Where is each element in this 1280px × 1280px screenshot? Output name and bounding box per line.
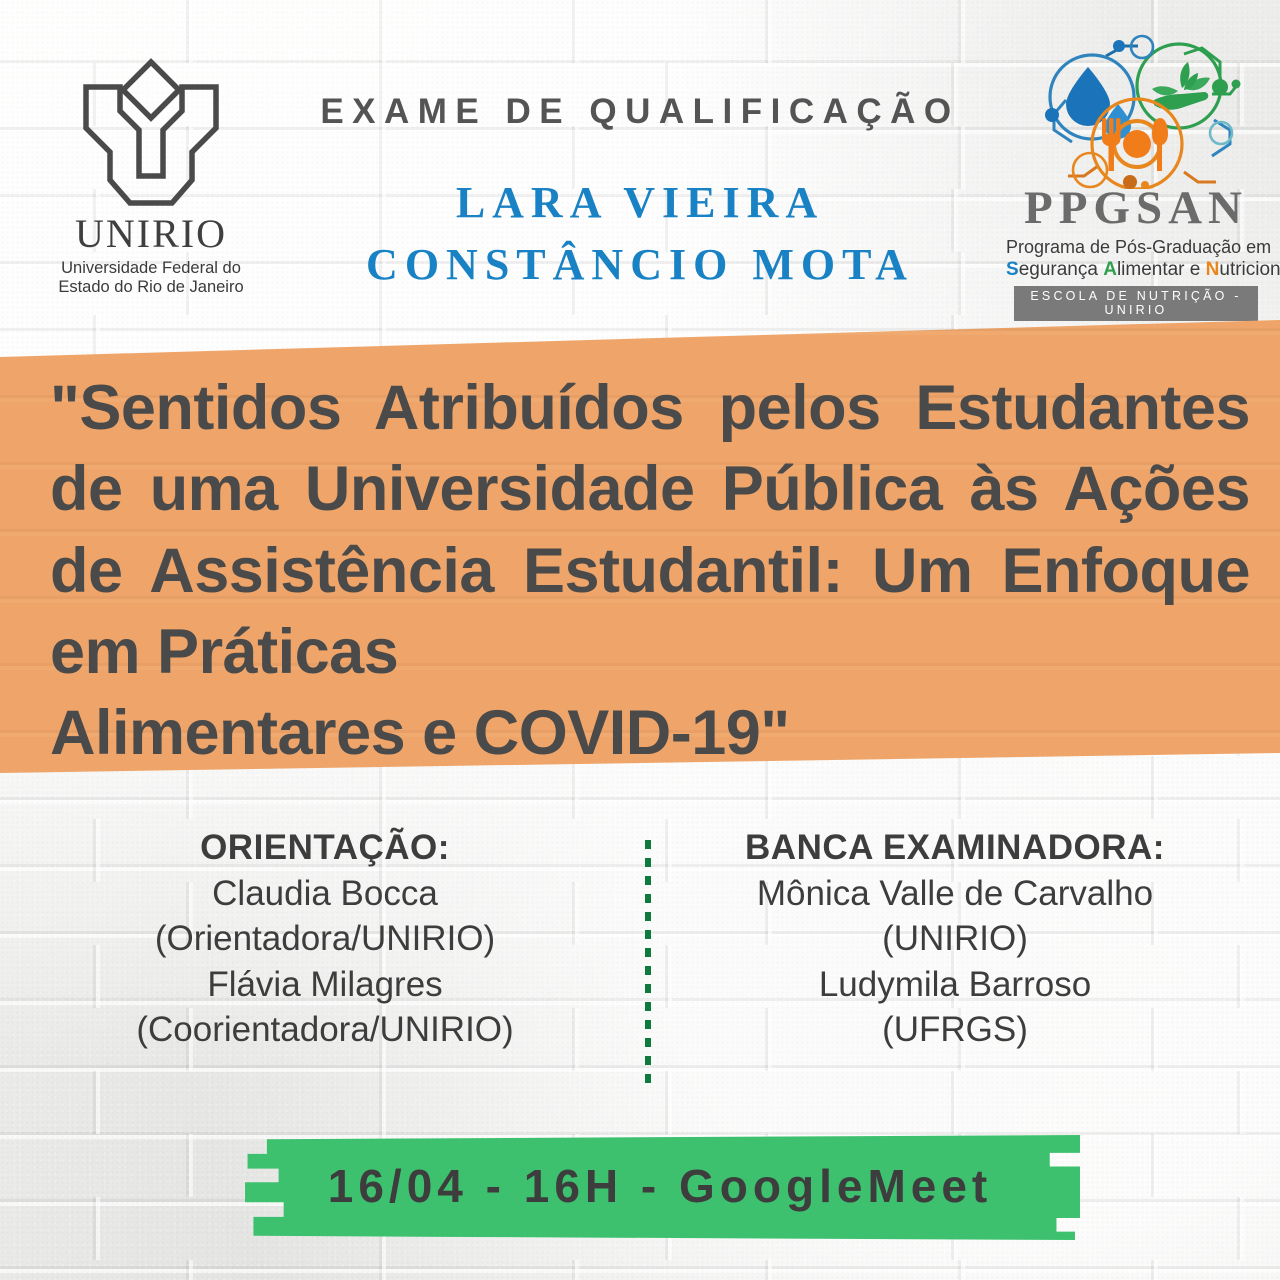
- advising-column: ORIENTAÇÃO: Claudia Bocca (Orientadora/U…: [20, 826, 630, 1053]
- student-name-line2: CONSTÂNCIO MOTA: [300, 234, 980, 296]
- thesis-title-last-line: Alimentares e COVID-19": [50, 693, 1250, 774]
- schedule-banner: 16/04 - 16H - GoogleMeet: [240, 1135, 1080, 1240]
- unirio-subtitle: Universidade Federal do Estado do Rio de…: [46, 259, 256, 298]
- examining-heading: BANCA EXAMINADORA:: [650, 826, 1260, 871]
- ppgsan-letter-n: N: [1206, 259, 1220, 280]
- ppgsan-alimentar-rest: limentar e: [1117, 259, 1206, 280]
- unirio-subtitle-line2: Estado do Rio de Janeiro: [46, 278, 256, 297]
- schedule-text: 16/04 - 16H - GoogleMeet: [240, 1133, 1080, 1238]
- examiner-affiliation-2: (UFRGS): [650, 1007, 1260, 1053]
- advisor-affiliation-1: (Orientadora/UNIRIO): [20, 916, 630, 962]
- ppgsan-program-subject: Segurança Alimentar e Nutricional: [1006, 259, 1266, 282]
- ppgsan-wordmark: PPGSAN: [1006, 185, 1266, 232]
- advisor-name-1: Claudia Bocca: [20, 871, 630, 917]
- advising-heading: ORIENTAÇÃO:: [20, 826, 630, 871]
- examiner-name-1: Mônica Valle de Carvalho: [650, 871, 1260, 917]
- ppgsan-emblem-svg: [1006, 34, 1266, 189]
- advisor-affiliation-2: (Coorientadora/UNIRIO): [20, 1007, 630, 1053]
- ppgsan-logo: PPGSAN Programa de Pós-Graduação em Segu…: [1006, 34, 1266, 321]
- ppgsan-school-bar: ESCOLA DE NUTRIÇÃO - UNIRIO: [1014, 286, 1258, 321]
- event-type-label: EXAME DE QUALIFICAÇÃO: [300, 92, 980, 132]
- unirio-emblem-icon: [76, 56, 226, 216]
- ppgsan-emblem-icons: [1006, 34, 1266, 189]
- ppgsan-program-line: Programa de Pós-Graduação em: [1006, 236, 1266, 259]
- student-name-line1: LARA VIEIRA: [300, 172, 980, 234]
- ppgsan-nutricional-rest: utricional: [1219, 259, 1280, 280]
- event-poster: UNIRIO Universidade Federal do Estado do…: [0, 0, 1280, 1280]
- examiner-name-2: Ludymila Barroso: [650, 962, 1260, 1008]
- thesis-title: "Sentidos Atribuídos pelos Estudantes de…: [50, 368, 1250, 774]
- ppgsan-seguranca-rest: egurança: [1019, 259, 1104, 280]
- unirio-subtitle-line1: Universidade Federal do: [46, 259, 256, 278]
- advisor-name-2: Flávia Milagres: [20, 962, 630, 1008]
- unirio-logo: UNIRIO Universidade Federal do Estado do…: [46, 56, 256, 298]
- examining-column: BANCA EXAMINADORA: Mônica Valle de Carva…: [650, 826, 1260, 1053]
- student-name: LARA VIEIRA CONSTÂNCIO MOTA: [300, 172, 980, 297]
- thesis-title-main: "Sentidos Atribuídos pelos Estudantes de…: [50, 373, 1250, 687]
- ppgsan-letter-s: S: [1006, 259, 1019, 280]
- unirio-wordmark: UNIRIO: [46, 214, 256, 254]
- ppgsan-letter-a: A: [1103, 259, 1117, 280]
- examiner-affiliation-1: (UNIRIO): [650, 916, 1260, 962]
